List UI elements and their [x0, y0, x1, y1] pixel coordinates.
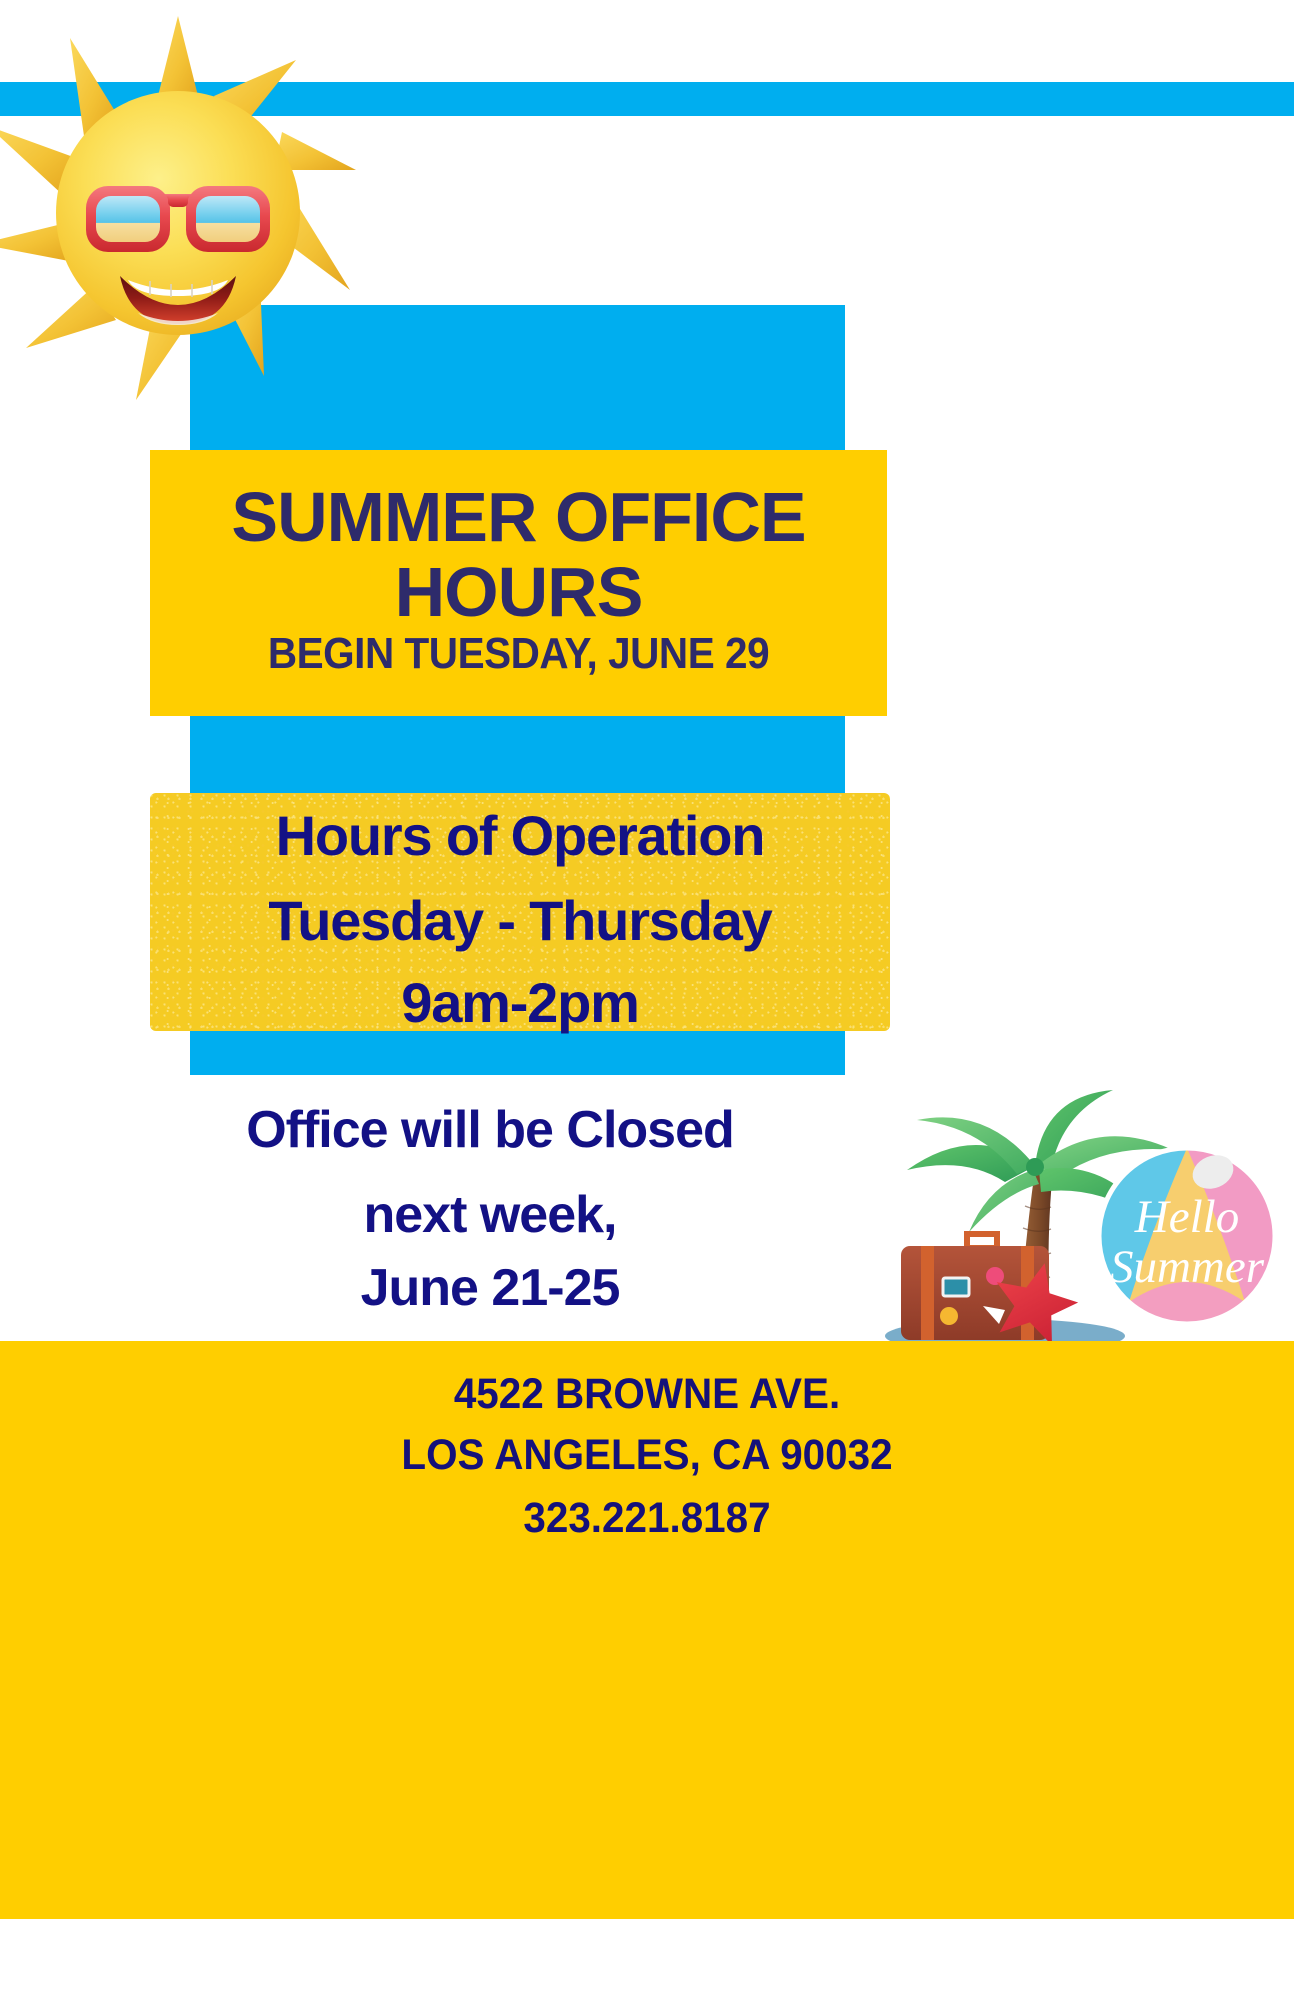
headline-line-2: HOURS — [150, 557, 887, 627]
footer-phone: 323.221.8187 — [39, 1497, 1255, 1540]
hours-days: Tuesday - Thursday — [150, 893, 890, 949]
headline-line-1: SUMMER OFFICE — [150, 482, 887, 552]
sun-with-sunglasses-icon — [0, 8, 378, 408]
hours-title: Hours of Operation — [150, 808, 890, 864]
footer-street: 4522 BROWNE AVE. — [39, 1373, 1255, 1416]
beach-ball-icon: Hello Summer — [1099, 1148, 1275, 1324]
beach-ball-hello-text: Hello — [1134, 1191, 1239, 1243]
beach-ball-summer-text: Summer — [1110, 1241, 1265, 1293]
footer-city-state-zip: LOS ANGELES, CA 90032 — [39, 1434, 1255, 1477]
poster-canvas: SUMMER OFFICE HOURS BEGIN TUESDAY, JUNE … — [0, 0, 1294, 2000]
headline-subtitle: BEGIN TUESDAY, JUNE 29 — [179, 632, 857, 676]
footer-gold-band — [0, 1341, 1294, 1919]
summer-illustration: Hello Summer — [735, 1020, 1294, 1350]
